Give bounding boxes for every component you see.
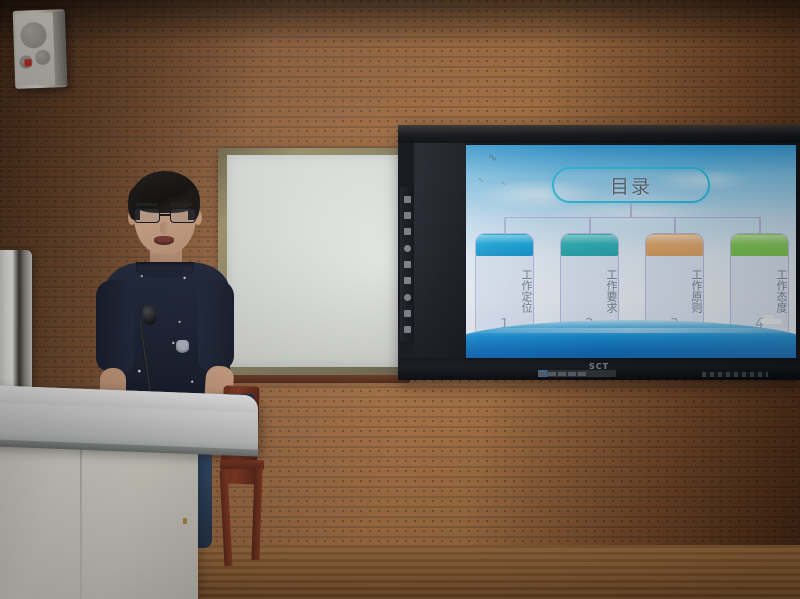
control-key-icon[interactable] xyxy=(538,372,546,376)
whiteboard-surface[interactable] xyxy=(227,155,402,367)
slide-card-1-label: 工作定位 xyxy=(476,261,533,321)
card-header-gloss xyxy=(645,235,704,244)
presenter-left-eyebrow xyxy=(136,203,158,206)
connector-horizontal-bar xyxy=(504,217,760,219)
card-header-gloss xyxy=(475,235,534,244)
speaker-midrange-icon xyxy=(35,50,51,66)
display-button-7-icon[interactable] xyxy=(404,294,411,301)
display-control-keys[interactable] xyxy=(538,370,616,377)
slide-card-4-header xyxy=(730,233,789,256)
slide-card-3-label: 工作原则 xyxy=(646,261,703,321)
bird-icon-2: ∿ xyxy=(478,177,484,184)
wall-speaker xyxy=(13,9,68,89)
bird-icon-1: ∿ xyxy=(488,153,497,164)
connector-drop-4 xyxy=(759,217,761,233)
control-key-icon[interactable] xyxy=(548,372,556,376)
display-side-control-strip[interactable] xyxy=(400,187,414,342)
presenter-left-sleeve xyxy=(96,280,134,372)
slide-card-3-header xyxy=(645,233,704,256)
connector-drop-2 xyxy=(589,217,591,233)
display-bezel-bottom: SCT xyxy=(398,358,800,380)
display-button-9-icon[interactable] xyxy=(404,326,411,333)
presenter-nose xyxy=(160,222,168,234)
whiteboard[interactable] xyxy=(218,148,410,376)
presenter-mouth xyxy=(154,236,174,245)
whiteboard-marker-tray xyxy=(224,375,410,383)
presenter-right-sleeve xyxy=(198,280,234,370)
card-header-gloss xyxy=(560,235,619,244)
interactive-flat-panel[interactable]: ∿ ∿ ∿ 目录 工作定位 1 xyxy=(398,125,800,380)
glasses-left-lens xyxy=(134,208,160,223)
connector-vertical-stem xyxy=(630,203,632,217)
connector-drop-1 xyxy=(504,217,506,233)
display-button-3-icon[interactable] xyxy=(404,228,411,235)
slide-connector-lines xyxy=(466,203,796,233)
display-ir-sensor-strip xyxy=(702,372,768,377)
presenter-shirt-emblem-icon xyxy=(176,340,189,354)
slide-sea-graphic xyxy=(466,320,796,358)
glasses-bridge xyxy=(160,214,170,216)
slide-card-1[interactable]: 工作定位 1 xyxy=(475,233,534,339)
card-header-gloss xyxy=(730,235,789,244)
glasses-right-lens xyxy=(170,208,196,223)
speaker-face xyxy=(15,13,55,86)
ship-mast xyxy=(774,310,776,319)
speaker-brand-logo xyxy=(24,59,31,66)
slide-title-pill: 目录 xyxy=(552,167,710,203)
sea-highlight xyxy=(466,328,796,333)
presentation-slide[interactable]: ∿ ∿ ∿ 目录 工作定位 1 xyxy=(466,145,796,358)
bird-icon-3: ∿ xyxy=(501,181,506,187)
presenter-collar xyxy=(136,262,194,278)
speaker-woofer-icon xyxy=(20,22,47,49)
slide-card-2-header xyxy=(560,233,619,256)
slide-card-1-header xyxy=(475,233,534,256)
display-left-dark-area xyxy=(414,143,466,358)
lectern-body xyxy=(0,445,198,599)
slide-title: 目录 xyxy=(610,172,652,199)
speaker-side-panel xyxy=(53,11,68,85)
control-key-icon[interactable] xyxy=(558,372,566,376)
control-key-icon[interactable] xyxy=(578,372,586,376)
presenter-right-eyebrow xyxy=(170,203,192,206)
conference-room-photo: ∿ ∿ ∿ 目录 工作定位 1 xyxy=(0,0,800,599)
slide-card-2-label: 工作要求 xyxy=(561,261,618,321)
display-button-8-icon[interactable] xyxy=(404,310,411,317)
display-button-6-icon[interactable] xyxy=(404,277,411,284)
lectern-panel-seam xyxy=(80,445,82,599)
ship-hull xyxy=(760,319,782,324)
ceiling-shadow xyxy=(0,0,800,46)
display-button-2-icon[interactable] xyxy=(404,212,411,219)
display-button-4-icon[interactable] xyxy=(404,245,411,252)
connector-drop-3 xyxy=(674,217,676,233)
display-button-5-icon[interactable] xyxy=(404,261,411,268)
display-button-1-icon[interactable] xyxy=(404,196,411,203)
ship-icon xyxy=(760,310,782,324)
lectern-lock-icon[interactable] xyxy=(183,518,187,524)
control-key-icon[interactable] xyxy=(568,372,576,376)
display-bezel-top xyxy=(398,125,800,143)
